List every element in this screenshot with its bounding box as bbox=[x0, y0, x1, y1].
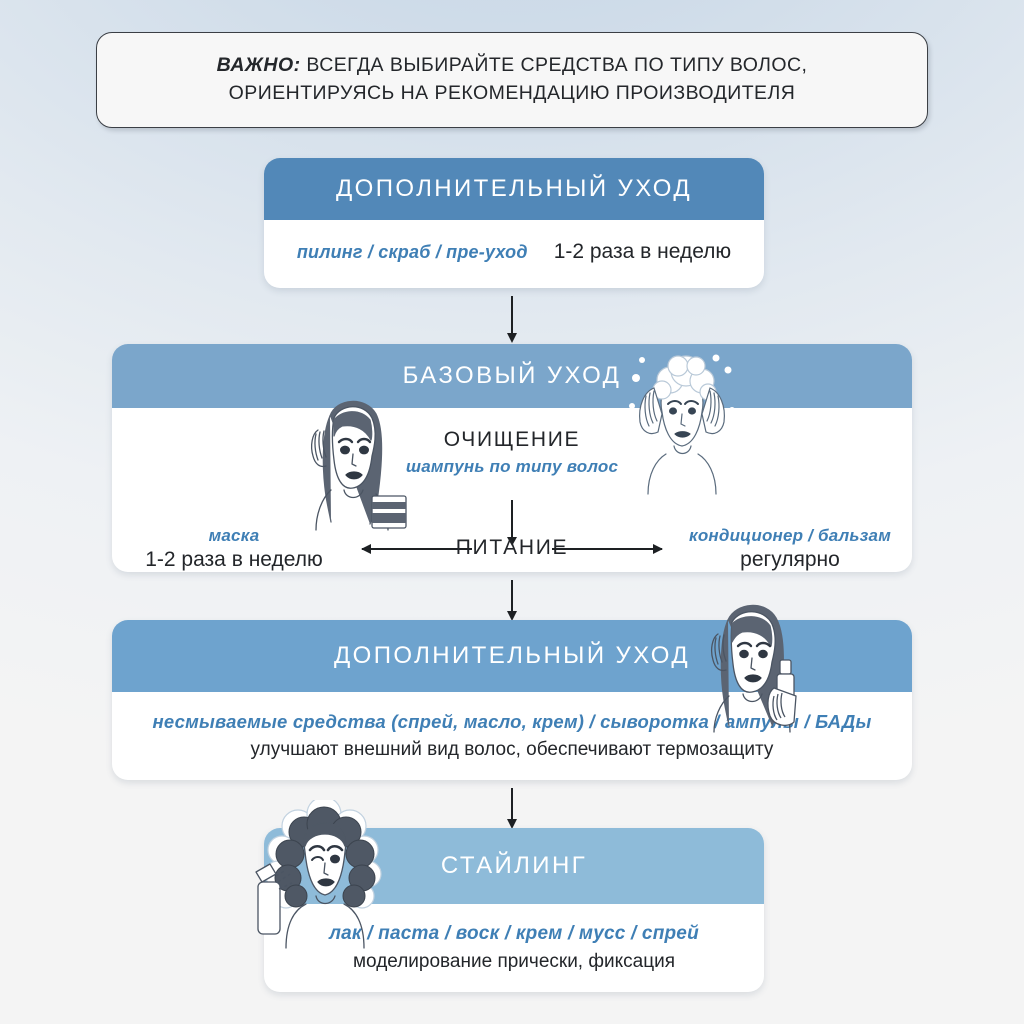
card3-description: улучшают внешний вид волос, обеспечивают… bbox=[251, 739, 774, 761]
connector-arrow-3 bbox=[511, 788, 513, 820]
card2-title: БАЗОВЫЙ УХОД bbox=[112, 344, 912, 408]
banner-body: ВСЕГДА ВЫБИРАЙТЕ СРЕДСТВА ПО ТИПУ ВОЛОС,… bbox=[229, 54, 808, 104]
card-base-care: БАЗОВЫЙ УХОД ОЧИЩЕНИЕ шампунь по типу во… bbox=[112, 344, 912, 572]
connector-arrow-1 bbox=[511, 296, 513, 334]
infographic-canvas: ВАЖНО: ВСЕГДА ВЫБИРАЙТЕ СРЕДСТВА ПО ТИПУ… bbox=[0, 0, 1024, 1024]
nutrition-right-block: кондиционер / бальзам регулярно bbox=[670, 526, 910, 572]
banner-emphasis: ВАЖНО: bbox=[217, 54, 301, 76]
card3-body: несмываемые средства (спрей, масло, крем… bbox=[112, 692, 912, 780]
card-additional-care-leavein: ДОПОЛНИТЕЛЬНЫЙ УХОД несмываемые средства… bbox=[112, 620, 912, 780]
card3-title: ДОПОЛНИТЕЛЬНЫЙ УХОД bbox=[112, 620, 912, 692]
arrow-right-to-conditioner bbox=[552, 548, 662, 550]
card-additional-care-top: ДОПОЛНИТЕЛЬНЫЙ УХОД пилинг / скраб / пре… bbox=[264, 158, 764, 288]
card1-products: пилинг / скраб / пре-уход bbox=[297, 242, 528, 263]
important-banner: ВАЖНО: ВСЕГДА ВЫБИРАЙТЕ СРЕДСТВА ПО ТИПУ… bbox=[96, 32, 928, 128]
card4-title: СТАЙЛИНГ bbox=[264, 828, 764, 904]
cleansing-label: ОЧИЩЕНИЕ bbox=[112, 428, 912, 452]
card1-frequency: 1-2 раза в неделю bbox=[554, 240, 732, 264]
cleansing-products: шампунь по типу волос bbox=[112, 457, 912, 477]
banner-text: ВАЖНО: ВСЕГДА ВЫБИРАЙТЕ СРЕДСТВА ПО ТИПУ… bbox=[217, 52, 808, 107]
conditioner-frequency: регулярно bbox=[670, 548, 910, 572]
card3-products: несмываемые средства (спрей, масло, крем… bbox=[153, 711, 872, 733]
connector-arrow-2 bbox=[511, 580, 513, 612]
card4-products: лак / паста / воск / крем / мусс / спрей bbox=[329, 923, 699, 945]
cleansing-block: ОЧИЩЕНИЕ шампунь по типу волос bbox=[112, 428, 912, 477]
conditioner-products: кондиционер / бальзам bbox=[670, 526, 910, 546]
card4-description: моделирование прически, фиксация bbox=[353, 951, 675, 973]
card2-body: ОЧИЩЕНИЕ шампунь по типу волос маска 1-2… bbox=[112, 408, 912, 572]
card4-body: лак / паста / воск / крем / мусс / спрей… bbox=[264, 904, 764, 992]
card-styling: СТАЙЛИНГ лак / паста / воск / крем / мус… bbox=[264, 828, 764, 992]
card1-body: пилинг / скраб / пре-уход 1-2 раза в нед… bbox=[264, 220, 764, 288]
card1-title: ДОПОЛНИТЕЛЬНЫЙ УХОД bbox=[264, 158, 764, 220]
nutrition-row: маска 1-2 раза в неделю ПИТАНИЕ кондицио… bbox=[112, 526, 912, 572]
